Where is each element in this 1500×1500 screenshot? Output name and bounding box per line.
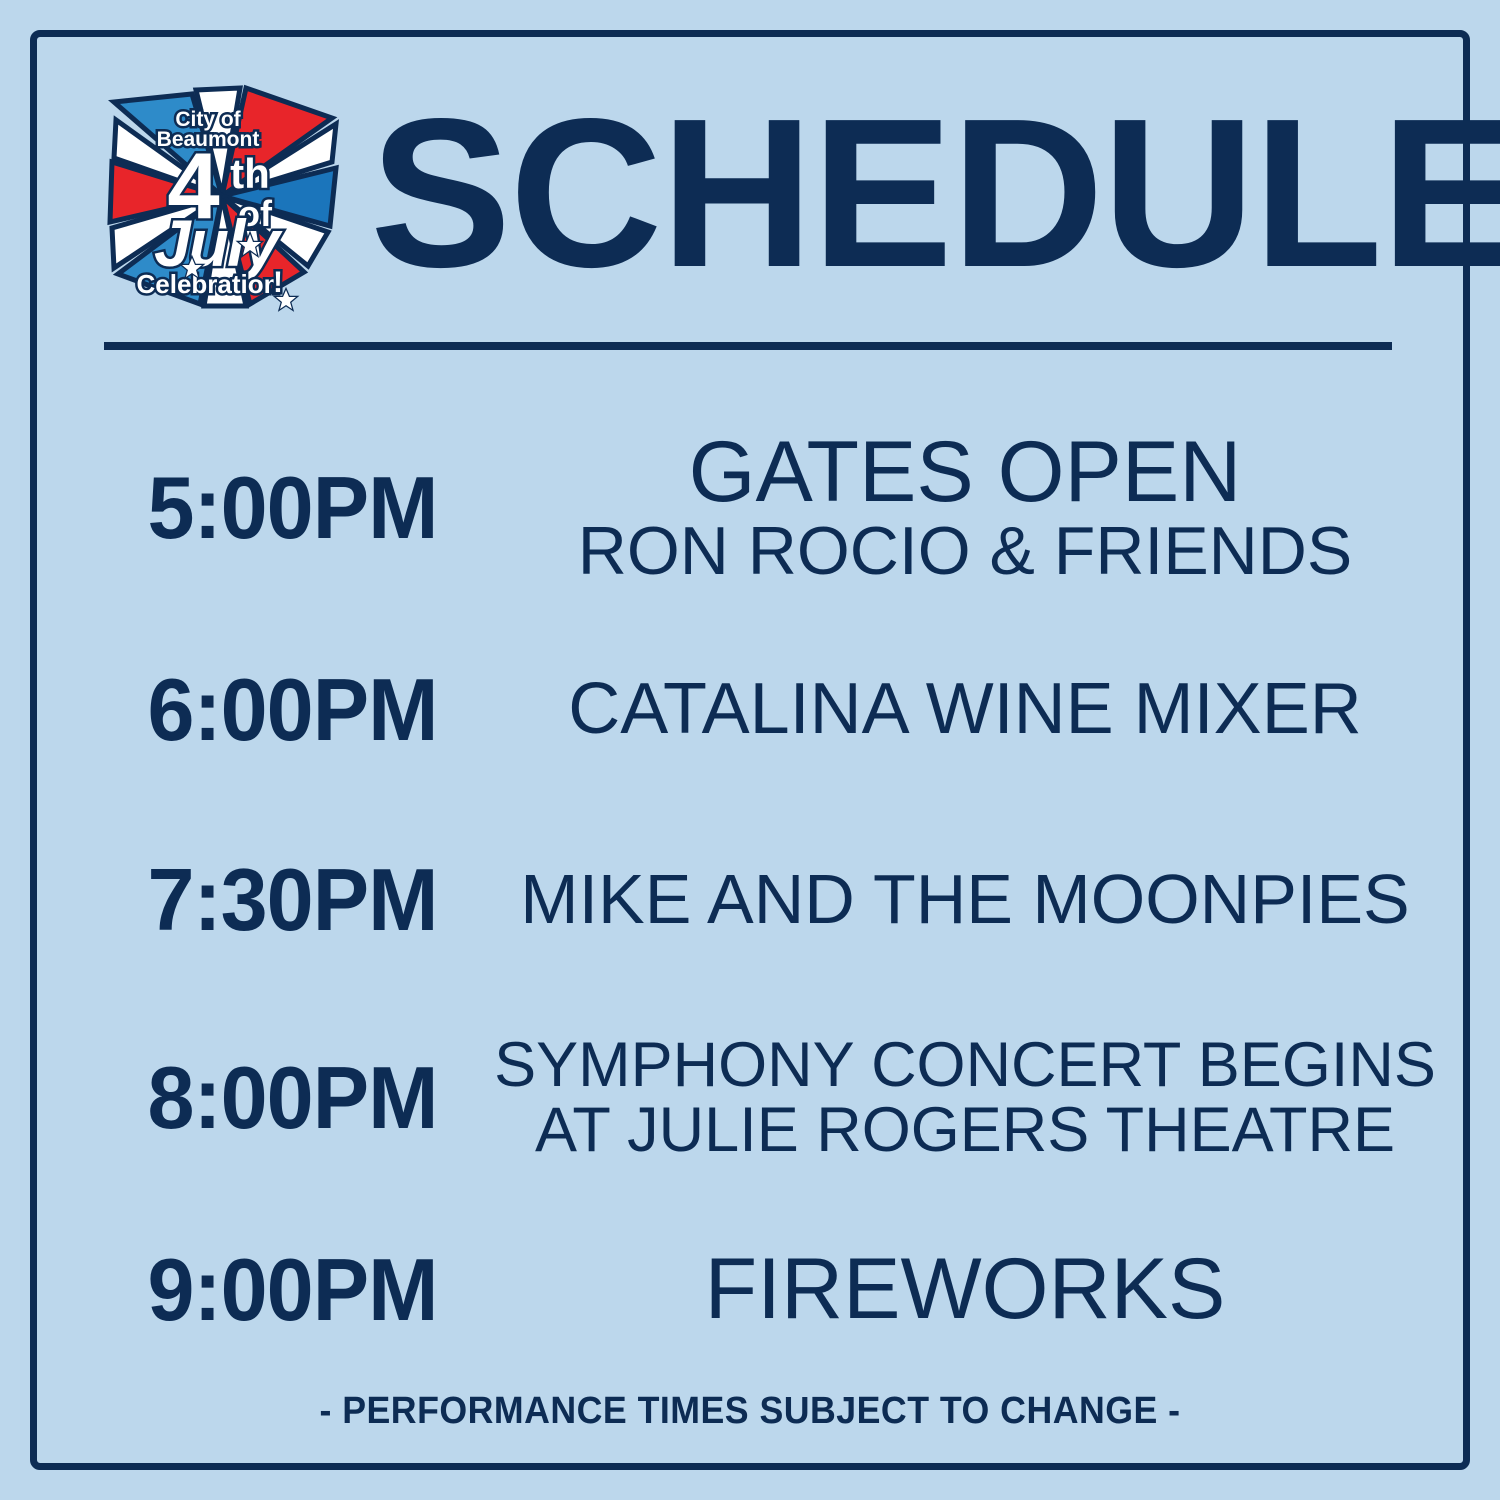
page-title-text: SCHEDULE: [370, 106, 1500, 280]
poster-header: City of Beaumont 4 th of July Celebratio…: [100, 60, 1400, 325]
header-divider: [104, 342, 1392, 350]
schedule-event-line: GATES OPEN: [485, 429, 1445, 517]
schedule-event: CATALINA WINE MIXER: [485, 673, 1445, 746]
schedule-row: 7:30PM MIKE AND THE MOONPIES: [100, 805, 1445, 995]
city-of-beaumont-4th-of-july-logo: City of Beaumont 4 th of July Celebratio…: [100, 76, 345, 316]
schedule-event-line: MIKE AND THE MOONPIES: [485, 864, 1445, 935]
schedule-list: 5:00PM GATES OPEN RON ROCIO & FRIENDS 6:…: [100, 400, 1445, 1380]
schedule-row: 9:00PM FIREWORKS: [100, 1200, 1445, 1380]
svg-text:Celebration: Celebration: [136, 269, 279, 299]
schedule-event-line: CATALINA WINE MIXER: [485, 673, 1445, 746]
disclaimer-note: - PERFORMANCE TIMES SUBJECT TO CHANGE -: [139, 1390, 1361, 1433]
schedule-event: GATES OPEN RON ROCIO & FRIENDS: [485, 429, 1445, 586]
schedule-event: SYMPHONY CONCERT BEGINS AT JULIE ROGERS …: [485, 1033, 1445, 1162]
schedule-event: MIKE AND THE MOONPIES: [485, 864, 1445, 935]
schedule-row: 5:00PM GATES OPEN RON ROCIO & FRIENDS: [100, 400, 1445, 615]
schedule-time: 5:00PM: [108, 464, 478, 552]
schedule-poster: City of Beaumont 4 th of July Celebratio…: [0, 0, 1500, 1500]
schedule-event-line: SYMPHONY CONCERT BEGINS: [485, 1033, 1445, 1097]
schedule-row: 6:00PM CATALINA WINE MIXER: [100, 615, 1445, 805]
schedule-event-line: FIREWORKS: [485, 1246, 1445, 1334]
schedule-event-line: AT JULIE ROGERS THEATRE: [485, 1098, 1445, 1162]
schedule-event-line: RON ROCIO & FRIENDS: [485, 517, 1445, 586]
schedule-event: FIREWORKS: [485, 1246, 1445, 1334]
svg-text:th: th: [230, 150, 270, 197]
schedule-time: 7:30PM: [108, 856, 478, 944]
schedule-row: 8:00PM SYMPHONY CONCERT BEGINS AT JULIE …: [100, 995, 1445, 1200]
schedule-time: 9:00PM: [108, 1246, 478, 1334]
svg-text:!: !: [273, 266, 283, 299]
schedule-time: 6:00PM: [108, 666, 478, 754]
schedule-time: 8:00PM: [108, 1054, 478, 1142]
page-title: SCHEDULE: [370, 60, 1400, 325]
